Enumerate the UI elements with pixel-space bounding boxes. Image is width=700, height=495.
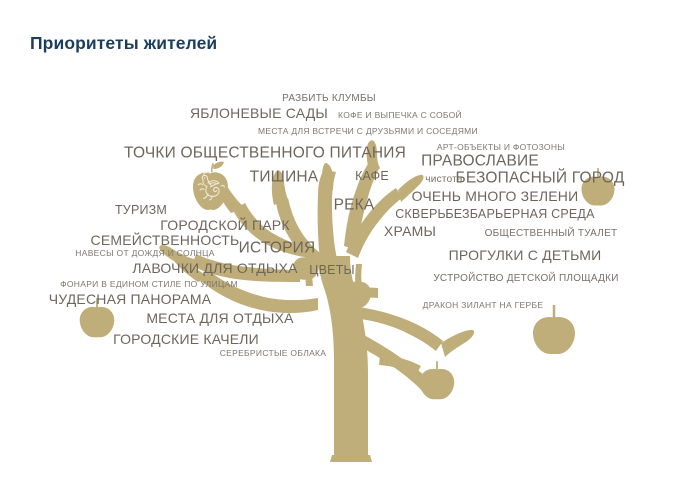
- word-cloud-item: ТОЧКИ ОБЩЕСТВЕННОГО ПИТАНИЯ: [124, 145, 406, 161]
- word-cloud-item: УСТРОЙСТВО ДЕТСКОЙ ПЛОЩАДКИ: [433, 274, 618, 284]
- word-cloud-item: СЕМЕЙСТВЕННОСТЬ: [91, 233, 240, 247]
- slide-canvas: Приоритеты жителей: [0, 0, 700, 495]
- word-cloud-item: НАВЕСЫ ОТ ДОЖДЯ И СОЛНЦА: [75, 249, 214, 258]
- word-cloud-item: ГОРОДСКИЕ КАЧЕЛИ: [113, 332, 259, 346]
- word-cloud-item: БЕЗБАРЬЕРНАЯ СРЕДА: [445, 208, 594, 221]
- word-cloud-item: ОБЩЕСТВЕННЫЙ ТУАЛЕТ: [485, 229, 618, 239]
- word-cloud-item: КОФЕ И ВЫПЕЧКА С СОБОЙ: [338, 111, 462, 120]
- word-cloud-item: КАФЕ: [355, 170, 389, 183]
- word-cloud-item: РЕКА: [334, 197, 375, 213]
- word-cloud-item: АРТ-ОБЪЕКТЫ И ФОТОЗОНЫ: [437, 143, 565, 152]
- word-cloud-item: ЦВЕТЫ: [309, 264, 355, 277]
- word-cloud-item: ТУРИЗМ: [115, 204, 167, 217]
- word-cloud-item: ПРАВОСЛАВИЕ: [421, 153, 539, 169]
- word-cloud-item: БЕЗОПАСНЫЙ ГОРОД: [455, 170, 624, 186]
- word-cloud-item: ТИШИНА: [250, 169, 319, 185]
- word-cloud-item: ДРАКОН ЗИЛАНТ НА ГЕРБЕ: [423, 301, 544, 310]
- word-cloud-item: СКВЕРЫ: [395, 208, 449, 221]
- word-cloud-item: СЕРЕБРИСТЫЕ ОБЛАКА: [220, 349, 327, 358]
- word-cloud-item: ОЧЕНЬ МНОГО ЗЕЛЕНИ: [412, 189, 579, 203]
- word-cloud-item: ГОРОДСКОЙ ПАРК: [160, 218, 289, 232]
- word-cloud-item: ИСТОРИЯ: [239, 240, 316, 256]
- word-cloud-item: ЛАВОЧКИ ДЛЯ ОТДЫХА: [132, 261, 297, 275]
- word-cloud-item: МЕСТА ДЛЯ ОТДЫХА: [146, 311, 293, 325]
- word-cloud-item: ПРОГУЛКИ С ДЕТЬМИ: [449, 248, 602, 262]
- word-cloud-item: ХРАМЫ: [384, 224, 436, 238]
- word-cloud-item: РАЗБИТЬ КЛУМБЫ: [282, 94, 376, 104]
- word-cloud-item: ЯБЛОНЕВЫЕ САДЫ: [190, 106, 328, 120]
- word-cloud-item: ЧУДЕСНАЯ ПАНОРАМА: [49, 292, 212, 306]
- word-cloud-item: МЕСТА ДЛЯ ВСТРЕЧИ С ДРУЗЬЯМИ И СОСЕДЯМИ: [258, 127, 478, 136]
- word-cloud-item: ФОНАРИ В ЕДИНОМ СТИЛЕ ПО УЛИЦАМ: [60, 280, 238, 289]
- word-cloud: РАЗБИТЬ КЛУМБЫЯБЛОНЕВЫЕ САДЫКОФЕ И ВЫПЕЧ…: [0, 0, 700, 495]
